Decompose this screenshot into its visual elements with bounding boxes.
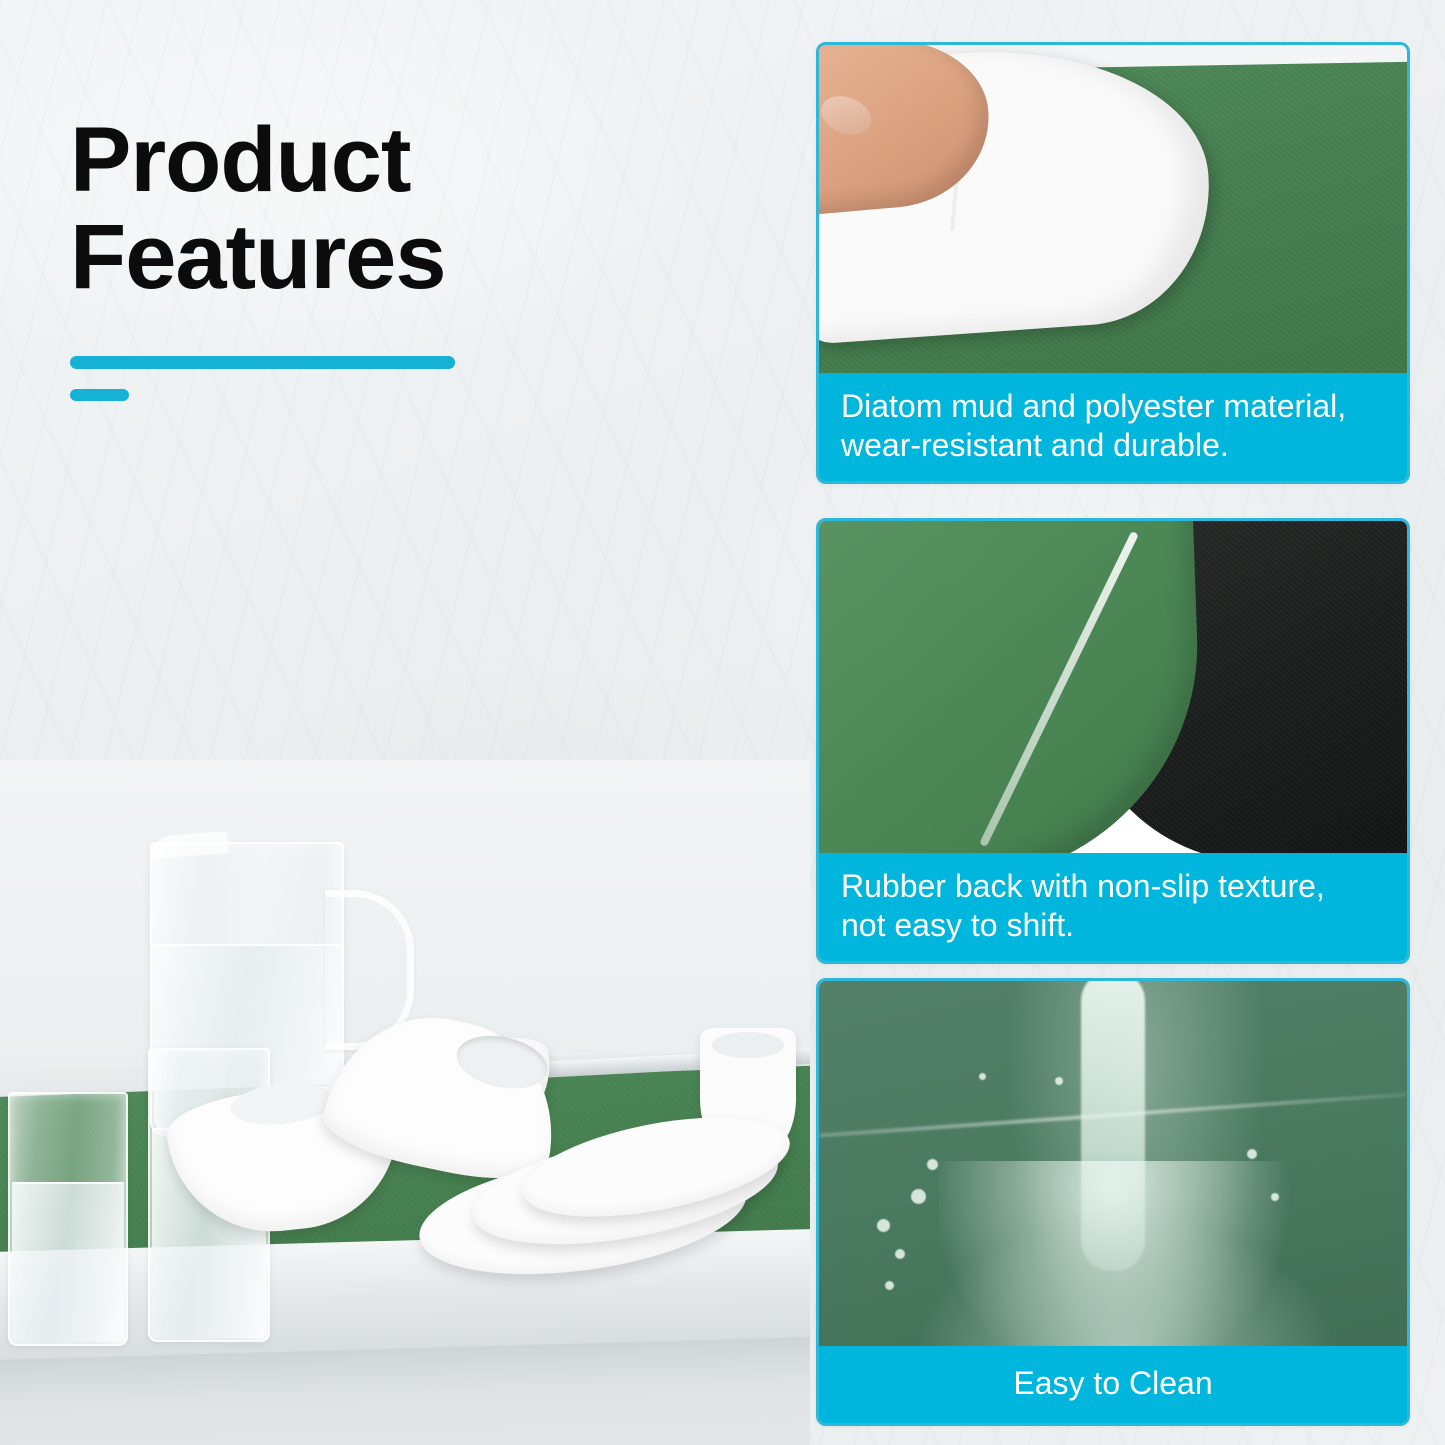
page-title-line-2: Features [70,206,446,308]
caption-line-2: not easy to shift. [841,906,1389,945]
accent-bar-short [70,389,129,401]
drinking-glass-left [8,1092,128,1346]
feature-caption-easy-clean: Easy to Clean [819,1346,1407,1423]
feature-caption-material: Diatom mud and polyester material, wear-… [819,373,1407,481]
hero-product-photo [0,760,810,1445]
water-bead [1271,1193,1279,1201]
water-bead [979,1073,986,1080]
caption-line-2: wear-resistant and durable. [841,426,1389,465]
feature-card-rubber-back[interactable]: Rubber back with non-slip texture, not e… [816,518,1410,964]
feature-caption-rubber-back: Rubber back with non-slip texture, not e… [819,853,1407,961]
water-bead [1055,1077,1063,1085]
water-bead [927,1159,938,1170]
water-bead [877,1219,890,1232]
caption-line-1: Easy to Clean [837,1364,1389,1403]
water-bead [895,1249,905,1259]
water-bead [1247,1149,1257,1159]
thumbnail [819,89,877,141]
caption-line-1: Diatom mud and polyester material, [841,387,1389,426]
feature-image-rubber-back [819,521,1407,863]
caption-line-1: Rubber back with non-slip texture, [841,867,1389,906]
feature-card-material[interactable]: Diatom mud and polyester material, wear-… [816,42,1410,484]
water-bead [911,1189,926,1204]
feature-card-easy-clean[interactable]: Easy to Clean [816,978,1410,1426]
accent-bar-long [70,356,455,369]
feature-image-material [819,45,1407,375]
page-title-line-1: Product [70,109,411,211]
glass-water [12,1182,124,1342]
page-title: Product Features [70,112,710,305]
water-bead [885,1281,894,1290]
